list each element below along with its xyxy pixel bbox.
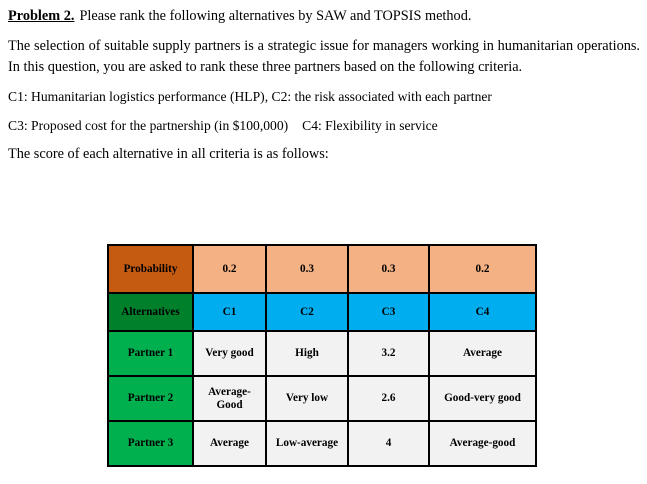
criteria-c4: C4: Flexibility in service [302, 118, 438, 133]
table-row: Partner 2 Average-Good Very low 2.6 Good… [109, 377, 535, 420]
prose-block: Problem 2.Please rank the following alte… [8, 6, 640, 165]
score-table: Probability 0.2 0.3 0.3 0.2 Alternatives… [107, 244, 537, 467]
partner-label: Partner 3 [109, 422, 192, 465]
problem-heading-paragraph: Problem 2.Please rank the following alte… [8, 6, 640, 27]
cell-value: Very good [194, 332, 265, 375]
cell-value: Average-good [430, 422, 535, 465]
criteria-header-c1: C1 [194, 294, 265, 330]
table-row: Partner 3 Average Low-average 4 Average-… [109, 422, 535, 465]
cell-value: Average [194, 422, 265, 465]
partner-label: Partner 2 [109, 377, 192, 420]
criteria-header-c3: C3 [349, 294, 428, 330]
criteria-header-c2: C2 [267, 294, 347, 330]
intro-paragraph: The selection of suitable supply partner… [8, 36, 640, 78]
cell-value: Good-very good [430, 377, 535, 420]
cell-value: 2.6 [349, 377, 428, 420]
problem-statement: Please rank the following alternatives b… [79, 8, 471, 24]
probability-value-c2: 0.3 [267, 246, 347, 292]
table-row-probability: Probability 0.2 0.3 0.3 0.2 [109, 246, 535, 292]
cell-value: Very low [267, 377, 347, 420]
cell-value: Average [430, 332, 535, 375]
probability-value-c1: 0.2 [194, 246, 265, 292]
document-page: Problem 2.Please rank the following alte… [0, 0, 647, 484]
lead-in-text: The score of each alternative in all cri… [8, 144, 640, 165]
probability-label: Probability [109, 246, 192, 292]
criteria-line-1: C1: Humanitarian logistics performance (… [8, 87, 640, 107]
table-row: Partner 1 Very good High 3.2 Average [109, 332, 535, 375]
alternatives-label: Alternatives [109, 294, 192, 330]
problem-label: Problem 2. [8, 8, 74, 24]
cell-value: 4 [349, 422, 428, 465]
table-row-alternatives-header: Alternatives C1 C2 C3 C4 [109, 294, 535, 330]
probability-value-c4: 0.2 [430, 246, 535, 292]
cell-value: Low-average [267, 422, 347, 465]
cell-value: Average-Good [194, 377, 265, 420]
criteria-c3: C3: Proposed cost for the partnership (i… [8, 118, 288, 133]
partner-label: Partner 1 [109, 332, 192, 375]
probability-value-c3: 0.3 [349, 246, 428, 292]
cell-value: High [267, 332, 347, 375]
cell-value: 3.2 [349, 332, 428, 375]
criteria-header-c4: C4 [430, 294, 535, 330]
score-table-container: Probability 0.2 0.3 0.3 0.2 Alternatives… [107, 244, 537, 467]
criteria-line-2: C3: Proposed cost for the partnership (i… [8, 116, 640, 136]
